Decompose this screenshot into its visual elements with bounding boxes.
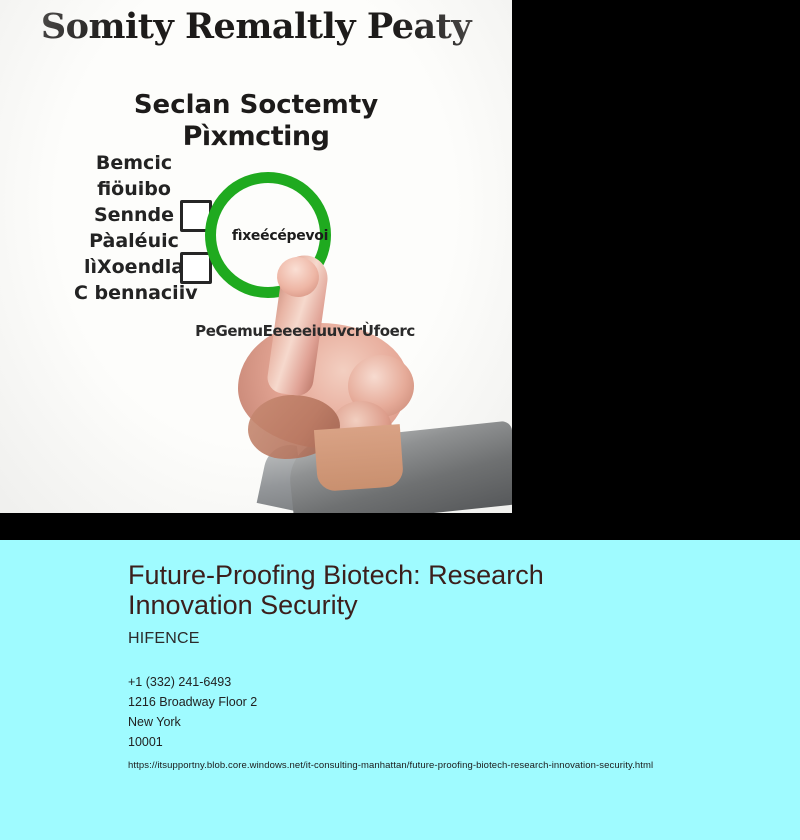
info-panel-content: Future-Proofing Biotech: Research Innova…: [128, 560, 768, 771]
contact-street: 1216 Broadway Floor 2: [128, 692, 768, 712]
illustration-caption: PeGemuEeeeeiuuvcrÙfoerc: [140, 322, 470, 340]
generated-illustration: Somity Remaltly Peaty Seclan Soctemty Pì…: [0, 0, 512, 513]
option-line: fiöuibo: [74, 176, 194, 202]
contact-zip: 10001: [128, 732, 768, 752]
info-panel: Future-Proofing Biotech: Research Innova…: [0, 540, 800, 840]
option-line: C bennaciiv: [74, 280, 194, 306]
illustration-subheading: Seclan Soctemty Pìxmcting: [0, 90, 512, 152]
subheading-line-2: Pìxmcting: [0, 121, 512, 152]
page-title: Future-Proofing Biotech: Research Innova…: [128, 560, 648, 620]
wrist: [314, 424, 404, 492]
option-line: Sennde: [74, 202, 194, 228]
source-url[interactable]: https://itsupportny.blob.core.windows.ne…: [128, 760, 768, 771]
checkbox-icon: [180, 252, 212, 284]
illustration-stage: Somity Remaltly Peaty Seclan Soctemty Pì…: [0, 0, 800, 540]
contact-block: +1 (332) 241-6493 1216 Broadway Floor 2 …: [128, 672, 768, 752]
option-line: Pàaléuic: [74, 228, 194, 254]
illustration-headline: Somity Remaltly Peaty: [0, 6, 512, 47]
green-circle-label: fìxeécépevoi: [205, 228, 355, 244]
option-line: lìXoendla: [74, 254, 194, 280]
subheading-line-1: Seclan Soctemty: [134, 90, 378, 120]
brand-name: HIFENCE: [128, 630, 768, 648]
contact-phone: +1 (332) 241-6493: [128, 672, 768, 692]
illustration-option-list: Bemcic fiöuibo Sennde Pàaléuic lìXoendla…: [74, 150, 194, 306]
pointing-hand-icon: [230, 255, 470, 513]
option-line: Bemcic: [74, 150, 194, 176]
contact-city: New York: [128, 712, 768, 732]
